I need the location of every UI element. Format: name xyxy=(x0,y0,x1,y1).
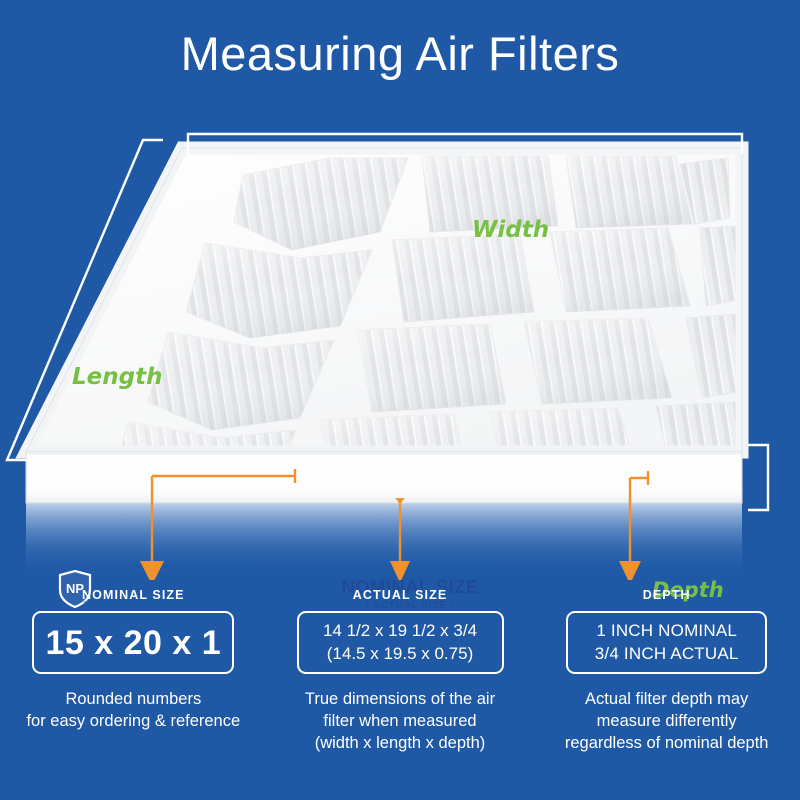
column-caption: True dimensions of the air filter when m… xyxy=(283,689,518,754)
page-title: Measuring Air Filters xyxy=(0,26,800,81)
value-line: 3/4 INCH ACTUAL xyxy=(595,643,739,666)
column-heading: ACTUAL SIZE xyxy=(353,588,448,602)
size-explanation-columns: NOMINAL SIZE 15 x 20 x 1 Rounded numbers… xyxy=(0,588,800,800)
caption-line: Rounded numbers xyxy=(13,689,253,711)
value-line: (14.5 x 19.5 x 0.75) xyxy=(327,643,473,666)
column-actual-size: ACTUAL SIZE 14 1/2 x 19 1/2 x 3/4 (14.5 … xyxy=(267,588,534,800)
depth-value-box: 1 INCH NOMINAL 3/4 INCH ACTUAL xyxy=(566,611,767,674)
column-heading: NOMINAL SIZE xyxy=(82,588,185,602)
column-caption: Actual filter depth may measure differen… xyxy=(549,689,784,754)
caption-line: Actual filter depth may xyxy=(549,689,784,711)
caption-line: (width x length x depth) xyxy=(283,733,518,755)
filter-diagram: Width Length Depth NOMINAL SIZE ( ACTUAL… xyxy=(0,100,800,580)
caption-line: regardless of nominal depth xyxy=(549,733,784,755)
column-depth: DEPTH 1 INCH NOMINAL 3/4 INCH ACTUAL Act… xyxy=(533,588,800,800)
column-heading: DEPTH xyxy=(643,588,691,602)
nominal-size-value-box: 15 x 20 x 1 xyxy=(32,611,234,674)
value-line: 14 1/2 x 19 1/2 x 3/4 xyxy=(323,620,477,643)
caption-line: filter when measured xyxy=(283,711,518,733)
actual-size-value-box: 14 1/2 x 19 1/2 x 3/4 (14.5 x 19.5 x 0.7… xyxy=(297,611,504,674)
caption-line: True dimensions of the air xyxy=(283,689,518,711)
label-length: Length xyxy=(72,364,162,390)
caption-line: for easy ordering & reference xyxy=(13,711,253,733)
value-line: 15 x 20 x 1 xyxy=(46,626,222,660)
infographic-canvas: Measuring Air Filters xyxy=(0,0,800,800)
value-line: 1 INCH NOMINAL xyxy=(596,620,737,643)
column-nominal-size: NOMINAL SIZE 15 x 20 x 1 Rounded numbers… xyxy=(0,588,267,800)
column-caption: Rounded numbers for easy ordering & refe… xyxy=(13,689,253,733)
caption-line: measure differently xyxy=(549,711,784,733)
depth-bracket xyxy=(748,445,768,510)
label-width: Width xyxy=(472,217,549,243)
